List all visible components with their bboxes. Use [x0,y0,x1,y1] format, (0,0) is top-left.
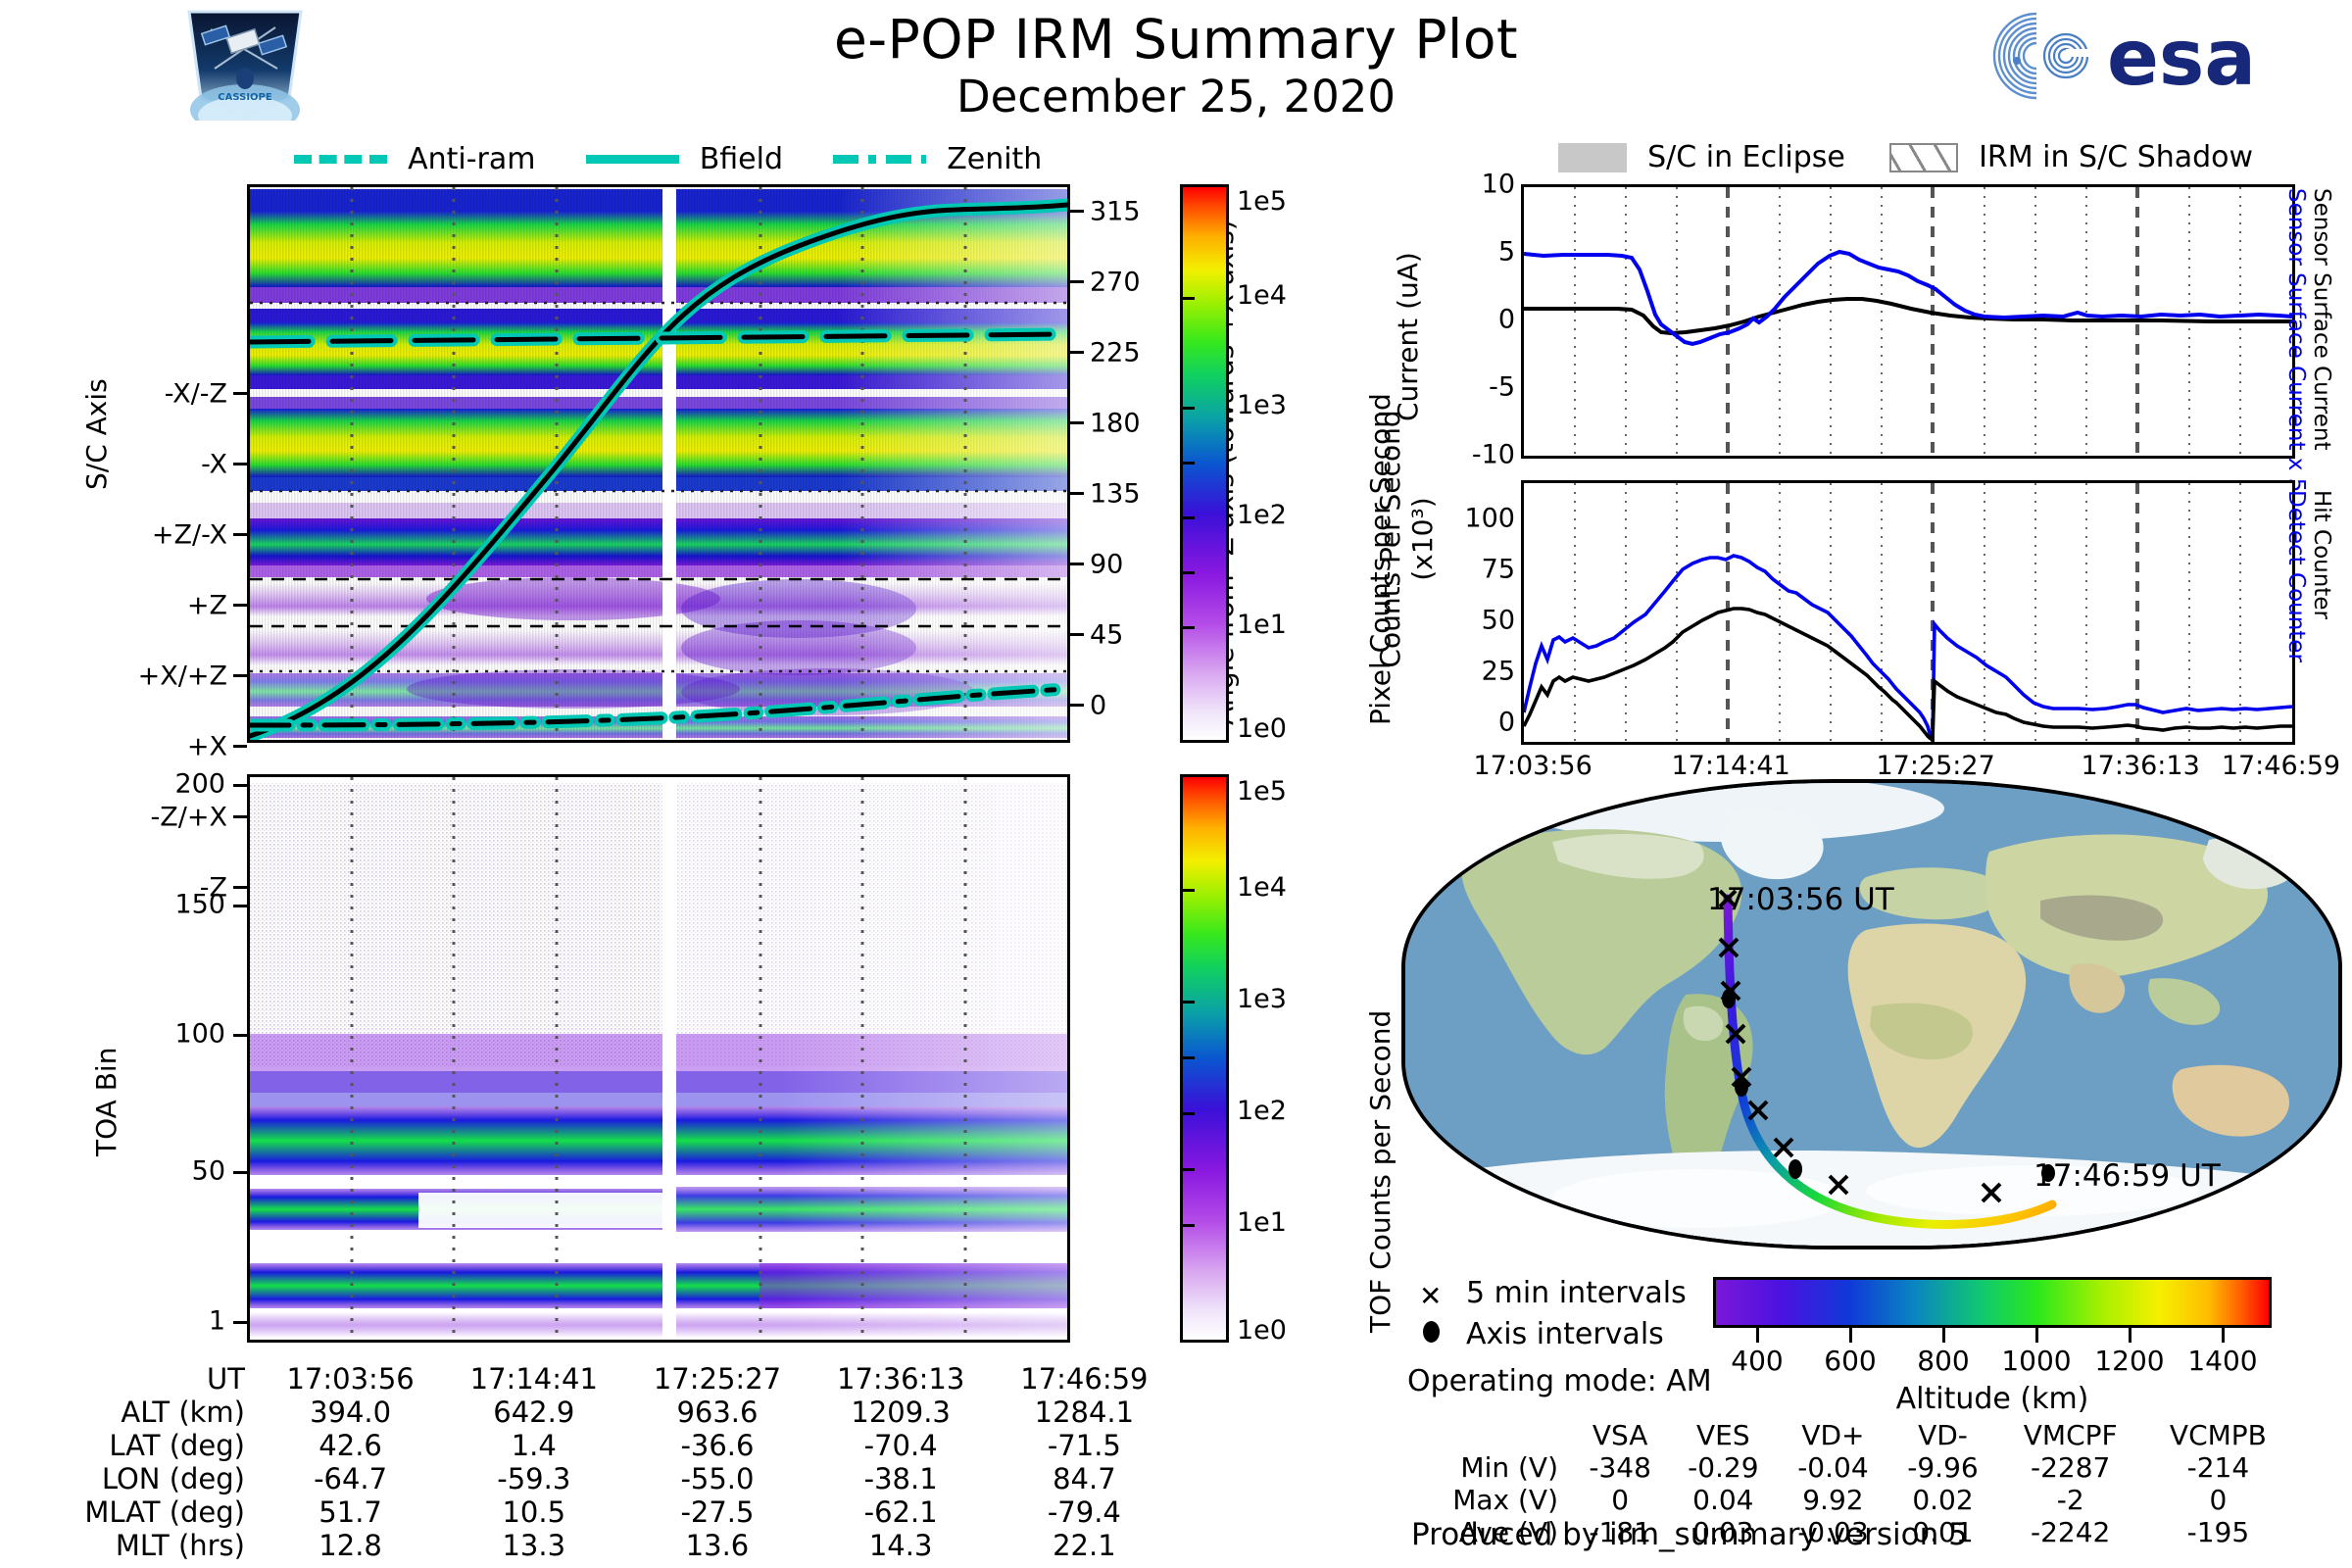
rtick-0: 0 [1090,691,1106,721]
lon-2: -55.0 [625,1462,808,1495]
max-vdp: 9.92 [1778,1484,1887,1516]
cnt-xtick-2: 17:25:27 [1876,751,1994,781]
lon-3: -38.1 [809,1462,993,1495]
cnt-ytick-75: 75 [1482,555,1515,585]
ytick-x-plus-z: +X/+Z [138,661,227,692]
ytick-plus-x: +X [187,732,227,762]
ave-vmcpf: -2242 [1998,1516,2143,1548]
map-end-label: 17:46:59 UT [2033,1158,2221,1194]
toa-ytick-1: 1 [209,1306,225,1337]
tof-cbtick-1e2: 1e2 [1237,1096,1287,1126]
table-row: Min (V) -348 -0.29 -0.04 -9.96 -2287 -21… [1411,1451,2293,1484]
mlat-4: -79.4 [993,1495,1176,1529]
alt-3: 1209.3 [809,1396,993,1429]
eclipse-legend: S/C in Eclipse IRM in S/C Shadow [1558,140,2303,179]
lon-4: 84.7 [993,1462,1176,1495]
counts-plot [1521,480,2295,745]
cur-ytick-5: 5 [1498,237,1515,268]
alt-tick-1000: 1000 [2001,1345,2071,1377]
max-vmcpf: -2 [1998,1484,2143,1516]
tof-counts-colorbar-ticklabels: 1e5 1e4 1e3 1e2 1e1 1e0 [1237,774,1345,1343]
alt-tick-1200: 1200 [2094,1345,2164,1377]
lon-0: -64.7 [259,1462,442,1495]
legend-label-axis: Axis intervals [1466,1317,1664,1351]
ave-vcmpb: -195 [2143,1516,2293,1548]
min-vdm: -9.96 [1887,1451,1997,1484]
rtick-135: 135 [1090,479,1141,510]
table-row: Max (V) 0 0.04 9.92 0.02 -2 0 [1411,1484,2293,1516]
min-vdp: -0.04 [1778,1451,1887,1484]
svg-text:esa: esa [2107,15,2256,103]
toa-ytick-200: 200 [174,769,225,800]
counts-plot-ticklabels: 100 75 50 25 0 [1426,480,1519,706]
cbtick-1e0: 1e0 [1237,713,1287,744]
rtick-90: 90 [1090,550,1123,580]
ytick-x-z: -X/-Z [165,379,227,410]
legend-label-eclipse: S/C in Eclipse [1647,140,1845,174]
alt-tick-1400: 1400 [2187,1345,2257,1377]
cnt-xtick-1: 17:14:41 [1671,751,1789,781]
map-start-label: 17:03:56 UT [1707,882,1894,917]
lat-4: -71.5 [993,1429,1176,1462]
max-vcmpb: 0 [2143,1484,2293,1516]
cnt-ytick-100: 100 [1464,504,1515,534]
ut-0: 17:03:56 [259,1362,442,1396]
legend-label-shadow: IRM in S/C Shadow [1979,140,2253,174]
cbtick-1e4: 1e4 [1237,280,1287,311]
row-label-mlat: MLAT (deg) [39,1495,259,1529]
table-row: LAT (deg) 42.6 1.4 -36.6 -70.4 -71.5 [39,1429,1176,1462]
pixel-spectrogram-left-tickmarks [233,184,247,743]
cbtick-1e5: 1e5 [1237,186,1287,217]
cbtick-1e1: 1e1 [1237,610,1287,640]
altitude-colorbar-ticklabels: 400 600 800 1000 1200 1400 [1713,1345,2301,1380]
cnt-ytick-50: 50 [1482,606,1515,636]
cur-ytick-10: 10 [1482,170,1515,200]
alt-tick-800: 800 [1917,1345,1969,1377]
col-vcmpb: VCMPB [2143,1419,2293,1451]
row-label-min: Min (V) [1411,1451,1572,1484]
toa-ytick-150: 150 [174,890,225,920]
tof-cbtick-1e4: 1e4 [1237,872,1287,903]
ytick-z: +Z [187,591,227,621]
rtick-225: 225 [1090,338,1141,368]
alt-2: 963.6 [625,1396,808,1429]
min-vcmpb: -214 [2143,1451,2293,1484]
mlt-3: 14.3 [809,1529,993,1562]
row-label-mlt: MLT (hrs) [39,1529,259,1562]
toa-spectrogram-left-tickmarks [233,774,247,1343]
row-label-max: Max (V) [1411,1484,1572,1516]
mlt-2: 13.6 [625,1529,808,1562]
mlat-2: -27.5 [625,1495,808,1529]
cnt-xtick-3: 17:36:13 [2081,751,2199,781]
cnt-ytick-0: 0 [1498,708,1515,738]
cnt-ytick-25: 25 [1482,657,1515,687]
row-label-lon: LON (deg) [39,1462,259,1495]
cur-ytick-m10: -10 [1472,440,1515,470]
table-row: MLAT (deg) 51.7 10.5 -27.5 -62.1 -79.4 [39,1495,1176,1529]
mlt-1: 13.3 [442,1529,625,1562]
col-ves: VES [1668,1419,1778,1451]
legend-swatch-eclipse [1558,143,1627,172]
counts-plot-ylabel: Counts Per Second (x10³) [1374,686,1433,751]
footer-credit: Produced by irm_summary version 5 [1411,1517,1968,1552]
tof-counts-colorbar [1180,774,1229,1343]
altitude-colorbar [1713,1277,2272,1328]
col-vdm: VD- [1887,1419,1997,1451]
orbit-table: UT 17:03:56 17:14:41 17:25:27 17:36:13 1… [39,1362,1176,1562]
pixel-spectrogram-left-ticks: -X/-Z -X +Z/-X +Z +X/+Z +X -Z/+X -Z [110,184,247,743]
alt-tick-600: 600 [1824,1345,1876,1377]
col-vsa: VSA [1572,1419,1668,1451]
ut-2: 17:25:27 [625,1362,808,1396]
lat-1: 1.4 [442,1429,625,1462]
altitude-colorbar-label: Altitude (km) [1713,1382,2272,1416]
max-ves: 0.04 [1668,1484,1778,1516]
mlat-1: 10.5 [442,1495,625,1529]
ut-3: 17:36:13 [809,1362,993,1396]
toa-ytick-100: 100 [174,1019,225,1050]
ut-1: 17:14:41 [442,1362,625,1396]
alt-0: 394.0 [259,1396,442,1429]
pixel-spectrogram [247,184,1070,743]
rtick-45: 45 [1090,620,1123,651]
cassiope-badge-text: CASSIOPE [218,92,272,103]
pixel-counts-colorbar-ticklabels: 1e5 1e4 1e3 1e2 1e1 1e0 [1237,184,1345,743]
alt-4: 1284.1 [993,1396,1176,1429]
cnt-xtick-4: 17:46:59 [2222,751,2340,781]
max-vsa: 0 [1572,1484,1668,1516]
ytick-x: -X [201,450,227,480]
pixel-counts-colorbar [1180,184,1229,743]
table-row: LON (deg) -64.7 -59.3 -55.0 -38.1 84.7 [39,1462,1176,1495]
rtick-315: 315 [1090,197,1141,227]
current-plot-right-label-black: Sensor Surface Current [2334,188,2352,214]
mlt-0: 12.8 [259,1529,442,1562]
table-header-row: VSA VES VD+ VD- VMCPF VCMPB [1411,1419,2293,1451]
current-plot [1521,184,2295,459]
legend-label-zenith: Zenith [947,142,1042,176]
cassiope-badge: CASSIOPE [181,8,309,121]
alt-1: 642.9 [442,1396,625,1429]
lat-3: -70.4 [809,1429,993,1462]
col-vmcpf: VMCPF [1998,1419,2143,1451]
toa-ytick-50: 50 [192,1156,225,1187]
table-row: ALT (km) 394.0 642.9 963.6 1209.3 1284.1 [39,1396,1176,1429]
pixel-spectrogram-right-tickmarks [1070,184,1084,743]
altitude-colorbar-tickmarks [1713,1328,2272,1344]
current-plot-ticklabels: 10 5 0 -5 -10 [1426,184,1519,459]
operating-mode: Operating mode: AM [1407,1364,1712,1398]
legend-swatch-bfield [586,155,679,164]
legend-swatch-zenith [833,155,926,164]
cnt-xtick-0: 17:03:56 [1473,751,1592,781]
alt-tick-400: 400 [1731,1345,1783,1377]
tof-cbtick-1e5: 1e5 [1237,776,1287,807]
mlat-3: -62.1 [809,1495,993,1529]
row-label-alt: ALT (km) [39,1396,259,1429]
x-marker-icon: ✕ [1419,1280,1442,1312]
max-vdm: 0.02 [1887,1484,1997,1516]
cbtick-1e2: 1e2 [1237,500,1287,530]
min-vmcpf: -2287 [1998,1451,2143,1484]
table-row: MLT (hrs) 12.8 13.3 13.6 14.3 22.1 [39,1529,1176,1562]
mlt-4: 22.1 [993,1529,1176,1562]
rtick-180: 180 [1090,409,1141,439]
ut-4: 17:46:59 [993,1362,1176,1396]
row-label-ut: UT [39,1362,259,1396]
table-row: UT 17:03:56 17:14:41 17:25:27 17:36:13 1… [39,1362,1176,1396]
lat-0: 42.6 [259,1429,442,1462]
legend-label-anti-ram: Anti-ram [408,142,535,176]
legend-label-5min: 5 min intervals [1466,1276,1687,1310]
cur-ytick-0: 0 [1498,305,1515,335]
cbtick-1e3: 1e3 [1237,390,1287,420]
toa-spectrogram [247,774,1070,1343]
row-label-lat: LAT (deg) [39,1429,259,1462]
tof-cbtick-1e0: 1e0 [1237,1315,1287,1346]
col-vdp: VD+ [1778,1419,1887,1451]
tof-cbtick-1e3: 1e3 [1237,984,1287,1014]
mlat-0: 51.7 [259,1495,442,1529]
esa-logo: esa [1989,10,2332,103]
cur-ytick-m5: -5 [1489,372,1515,403]
tof-cbtick-1e1: 1e1 [1237,1207,1287,1238]
lat-2: -36.6 [625,1429,808,1462]
ytick-z-x: +Z/-X [152,520,227,551]
legend-swatch-anti-ram [294,155,387,164]
legend-label-bfield: Bfield [700,142,783,176]
legend-swatch-shadow [1889,143,1958,172]
rtick-270: 270 [1090,268,1141,298]
min-ves: -0.29 [1668,1451,1778,1484]
dot-marker-icon [1423,1321,1440,1343]
lon-1: -59.3 [442,1462,625,1495]
spectrogram-legend: Anti-ram Bfield Zenith [294,142,1078,181]
toa-spectrogram-left-ticks: 200 150 100 50 1 [127,774,247,1343]
counts-plot-right-label-black: Hit Counter [2334,490,2352,515]
min-vsa: -348 [1572,1451,1668,1484]
